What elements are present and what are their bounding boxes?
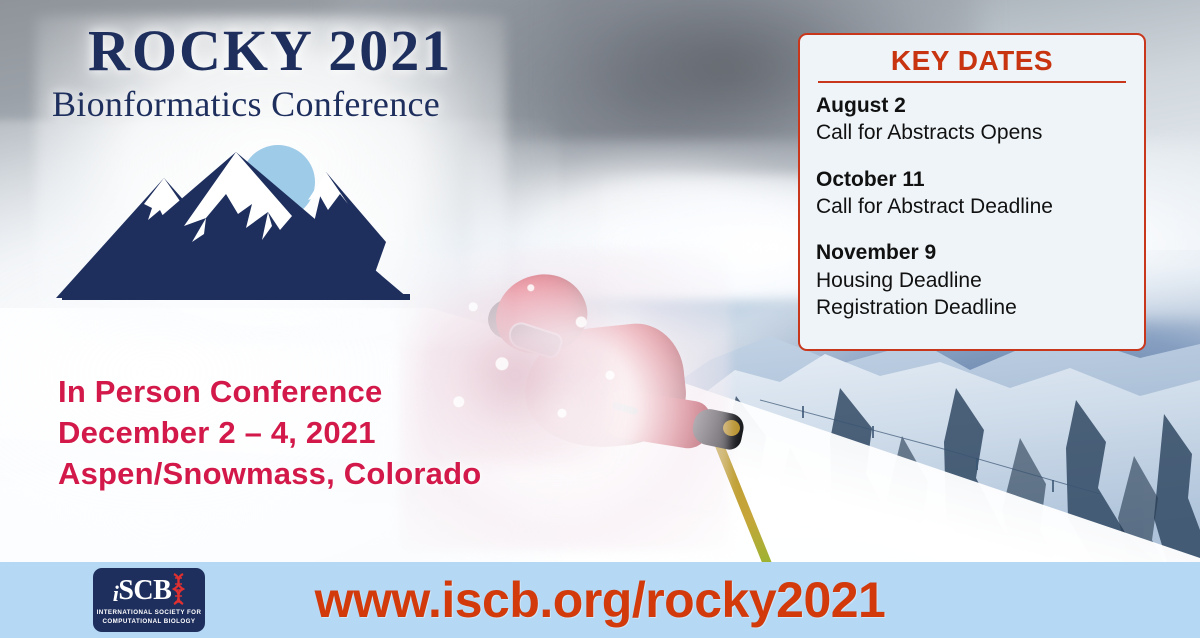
key-date-group: August 2 Call for Abstracts Opens	[816, 92, 1128, 147]
page-title: ROCKY 2021	[46, 22, 486, 80]
key-dates-panel: KEY DATES August 2 Call for Abstracts Op…	[798, 33, 1146, 351]
page-subtitle: Bionformatics Conference	[46, 80, 486, 124]
conference-dates-line: December 2 – 4, 2021	[58, 413, 481, 454]
conference-location-line: Aspen/Snowmass, Colorado	[58, 454, 481, 495]
footer-bar: i SCB INTERNATIONAL SOCIETY FOR COM	[0, 562, 1200, 638]
key-date-description: Call for Abstracts Opens	[816, 119, 1128, 146]
key-date-description: Registration Deadline	[816, 294, 1128, 321]
key-dates-divider	[818, 81, 1126, 83]
key-date-label: August 2	[816, 92, 1128, 119]
conference-details: In Person Conference December 2 – 4, 202…	[58, 372, 481, 495]
key-dates-heading: KEY DATES	[816, 45, 1128, 77]
key-date-label: October 11	[816, 166, 1128, 193]
mountain-peaks-logo	[56, 130, 486, 315]
key-date-description: Housing Deadline	[816, 267, 1128, 294]
poster-canvas: ROCKY 2021 Bionformatics Conference KEY …	[0, 0, 1200, 638]
conference-branding: ROCKY 2021 Bionformatics Conference	[46, 22, 486, 315]
website-url[interactable]: www.iscb.org/rocky2021	[0, 571, 1200, 629]
key-date-group: October 11 Call for Abstract Deadline	[816, 166, 1128, 221]
conference-format-line: In Person Conference	[58, 372, 481, 413]
mountain-logo-svg	[56, 130, 456, 310]
key-date-label: November 9	[816, 239, 1128, 266]
key-date-description: Call for Abstract Deadline	[816, 193, 1128, 220]
key-date-group: November 9 Housing Deadline Registration…	[816, 239, 1128, 321]
